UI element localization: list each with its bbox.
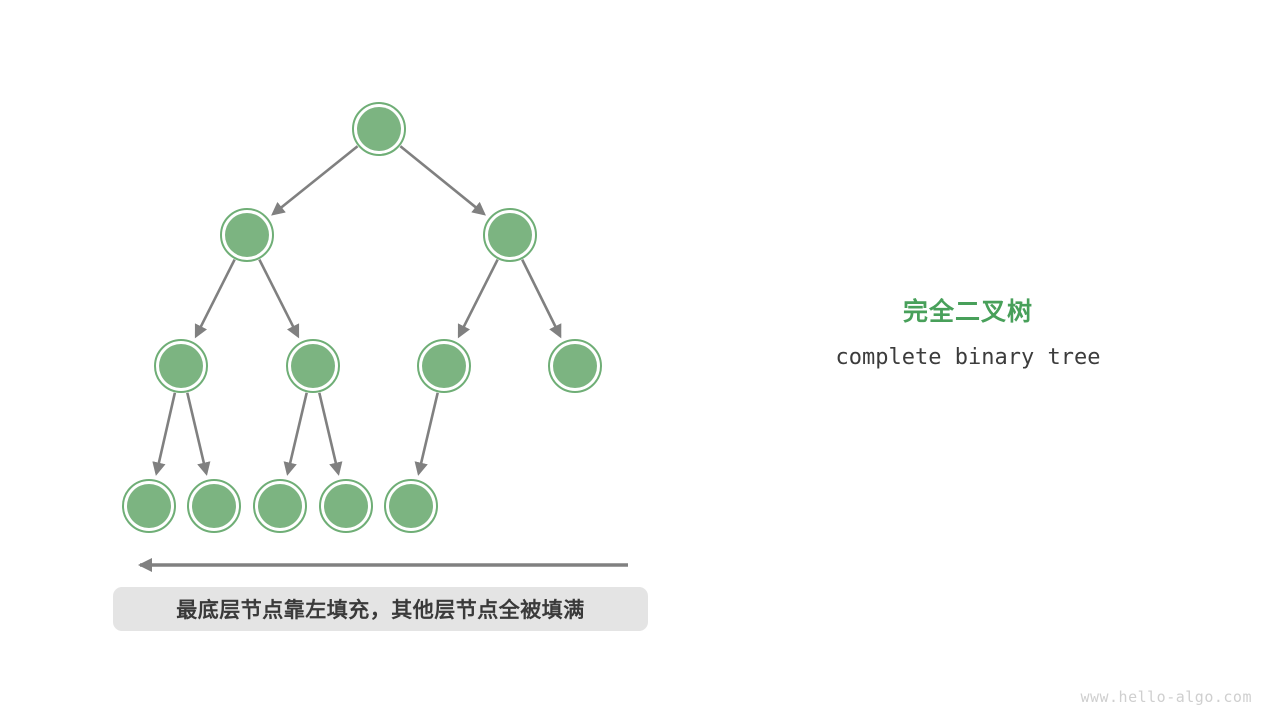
tree-node [254, 480, 306, 532]
tree-edges [156, 146, 560, 473]
tree-edge [288, 393, 307, 474]
tree-edge [273, 146, 357, 214]
tree-node [484, 209, 536, 261]
tree-edge [187, 393, 206, 474]
tree-edge [400, 146, 484, 214]
node-disc [553, 344, 597, 388]
tree-edge [522, 260, 560, 336]
tree-edge [419, 393, 438, 474]
legend-title: 完全二叉树 [758, 296, 1178, 328]
node-disc [127, 484, 171, 528]
tree-edge [459, 260, 498, 337]
tree-edge [196, 260, 235, 337]
caption-text: 最底层节点靠左填充，其他层节点全被填满 [176, 594, 585, 624]
node-disc [192, 484, 236, 528]
watermark: www.hello-algo.com [1080, 688, 1252, 706]
tree-node [188, 480, 240, 532]
node-disc [291, 344, 335, 388]
tree-node [221, 209, 273, 261]
tree-node [418, 340, 470, 392]
node-disc [258, 484, 302, 528]
node-disc [159, 344, 203, 388]
tree-node [385, 480, 437, 532]
legend-subtitle: complete binary tree [758, 343, 1178, 373]
diagram-canvas: 完全二叉树 complete binary tree 最底层节点靠左填充，其他层… [0, 0, 1280, 720]
node-disc [389, 484, 433, 528]
tree-edge [156, 393, 174, 474]
tree-edge [319, 393, 338, 474]
node-disc [488, 213, 532, 257]
node-disc [324, 484, 368, 528]
caption-box: 最底层节点靠左填充，其他层节点全被填满 [113, 587, 648, 631]
tree-node [320, 480, 372, 532]
tree-node [155, 340, 207, 392]
node-disc [422, 344, 466, 388]
tree-node [353, 103, 405, 155]
tree-edge [259, 260, 298, 337]
node-disc [357, 107, 401, 151]
tree-node [123, 480, 175, 532]
tree-node [287, 340, 339, 392]
node-disc [225, 213, 269, 257]
tree-node [549, 340, 601, 392]
tree-nodes [123, 103, 601, 532]
